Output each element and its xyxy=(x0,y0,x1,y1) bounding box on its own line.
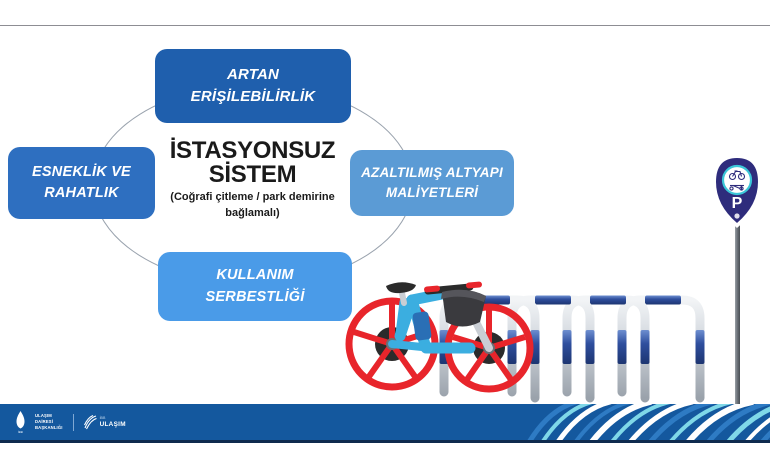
sign-head-outline xyxy=(713,155,761,228)
box-top-line2: ERİŞİLEBİLİRLİK xyxy=(187,86,320,108)
bike-rack xyxy=(563,296,650,399)
box-kullanim-serbestligi[interactable]: KULLANIM SERBESTLİĞİ xyxy=(158,252,352,321)
box-bottom-line1: KULLANIM xyxy=(212,265,297,286)
sign-pole xyxy=(735,225,740,405)
center-heading-block: İSTASYONSUZ SİSTEM (Coğrafi çitleme / pa… xyxy=(150,139,355,219)
connector-ellipse xyxy=(0,0,770,470)
box-left-line1: ESNEKLİK VE xyxy=(28,162,135,183)
ibb-emblem-block: İBB xyxy=(13,410,28,434)
artwork-layer: P xyxy=(0,0,770,470)
center-title-line1: İSTASYONSUZ xyxy=(150,139,355,163)
sign-p-label: P xyxy=(732,195,743,212)
ibb-emblem-caption: İBB xyxy=(18,431,23,434)
center-subtitle-line2: bağlamalı) xyxy=(150,207,355,220)
bicycle-handlebar xyxy=(424,281,482,292)
bicycle-saddle xyxy=(386,282,416,293)
bike-parking-sign: P xyxy=(713,155,761,405)
footer-logo-divider xyxy=(73,414,74,431)
ulasim-brand-big: ULAŞIM xyxy=(100,421,126,428)
scooter-pictogram xyxy=(730,186,744,191)
footer-logo-group: İBB ULAŞIM DAİRESİ BAŞKANLIĞI İBB xyxy=(13,404,126,440)
box-bottom-line2: SERBESTLİĞİ xyxy=(202,287,309,308)
ulasim-mark-icon xyxy=(84,415,97,430)
sign-head-body xyxy=(716,158,758,223)
bicycle-frame xyxy=(392,288,489,348)
box-azaltilmis-altyapi-maliyetleri[interactable]: AZALTILMIŞ ALTYAPI MALİYETLERİ xyxy=(350,150,514,216)
footer-bar: İBB ULAŞIM DAİRESİ BAŞKANLIĞI İBB xyxy=(0,404,770,440)
bicycle-battery xyxy=(412,311,432,341)
box-left-line2: RAHATLIK xyxy=(40,183,123,204)
sign-pictogram-disc xyxy=(723,166,751,194)
center-title-line2: SİSTEM xyxy=(150,163,355,187)
footer-underline xyxy=(0,440,770,443)
ulasim-wordmark: İBB ULAŞIM xyxy=(100,416,126,427)
bicycle-rear-wheel xyxy=(349,301,435,387)
bike-rack xyxy=(618,296,705,399)
department-line-3: BAŞKANLIĞI xyxy=(35,425,63,431)
top-divider-rule xyxy=(0,25,770,26)
bicycle-pictogram xyxy=(730,171,745,180)
bike-rack xyxy=(440,296,540,399)
box-artan-erisilebilirlik[interactable]: ARTAN ERİŞİLEBİLİRLİK xyxy=(155,49,351,123)
department-name: ULAŞIM DAİRESİ BAŞKANLIĞI xyxy=(35,413,63,431)
center-subtitle-line1: (Coğrafi çitleme / park demirine xyxy=(150,191,355,204)
bike-parking-racks xyxy=(440,296,705,399)
box-esneklik-ve-rahatlik[interactable]: ESNEKLİK VE RAHATLIK xyxy=(8,147,155,219)
bicycle-basket xyxy=(441,290,486,327)
sign-emblem-icon xyxy=(734,213,739,218)
footer-wave-graphic xyxy=(520,404,770,440)
bicycle-front-wheel xyxy=(448,307,530,389)
bike-rack xyxy=(508,296,595,399)
ibb-ulasim-logo: İBB ULAŞIM xyxy=(84,415,126,430)
box-top-line1: ARTAN xyxy=(223,64,283,86)
shared-bicycle xyxy=(349,281,530,389)
slide-canvas: ARTAN ERİŞİLEBİLİRLİK ESNEKLİK VE RAHATL… xyxy=(0,0,770,470)
box-right-line1: AZALTILMIŞ ALTYAPI xyxy=(357,163,507,183)
ibb-tulip-emblem-icon xyxy=(13,410,28,430)
box-right-line2: MALİYETLERİ xyxy=(382,183,482,203)
